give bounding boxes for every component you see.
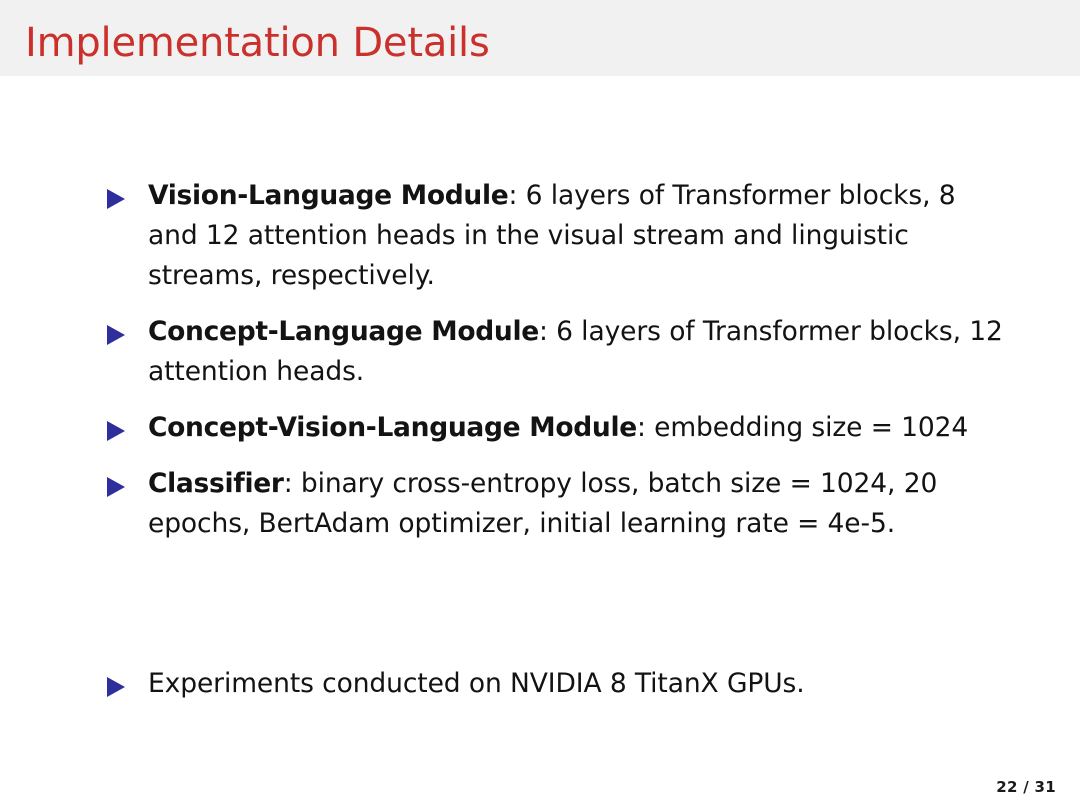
list-item-lead: Classifier (148, 468, 284, 499)
list-item-separator: : (284, 468, 301, 499)
list-spacer (104, 560, 1004, 664)
list-item-lead: Concept-Language Module (148, 316, 539, 347)
triangle-right-bullet-icon (107, 189, 125, 209)
list-item-lead: Vision-Language Module (148, 180, 508, 211)
triangle-right-bullet-icon (107, 677, 125, 697)
page-number-indicator: 22 / 31 (996, 778, 1056, 796)
list-item-separator: : (539, 316, 556, 347)
list-item: Concept-Language Module: 6 layers of Tra… (104, 312, 1004, 392)
slide-body: Vision-Language Module: 6 layers of Tran… (104, 176, 1004, 704)
list-item-separator: : (637, 412, 654, 443)
list-item-lead: Concept-Vision-Language Module (148, 412, 637, 443)
triangle-right-bullet-icon (107, 421, 125, 441)
bullet-list: Vision-Language Module: 6 layers of Tran… (104, 176, 1004, 704)
slide-header-band: Implementation Details (0, 0, 1080, 76)
list-item: Concept-Vision-Language Module: embeddin… (104, 408, 1004, 448)
list-item: Vision-Language Module: 6 layers of Tran… (104, 176, 1004, 296)
triangle-right-bullet-icon (107, 477, 125, 497)
list-item: Classifier: binary cross-entropy loss, b… (104, 464, 1004, 544)
list-item-experiments: Experiments conducted on NVIDIA 8 TitanX… (104, 664, 1004, 704)
list-item-text: embedding size = 1024 (654, 412, 968, 443)
triangle-right-bullet-icon (107, 325, 125, 345)
list-item-separator: : (508, 180, 525, 211)
page-title: Implementation Details (25, 19, 490, 67)
slide-canvas: Implementation Details Vision-Language M… (0, 0, 1080, 810)
list-item-text: Experiments conducted on NVIDIA 8 TitanX… (148, 668, 805, 699)
